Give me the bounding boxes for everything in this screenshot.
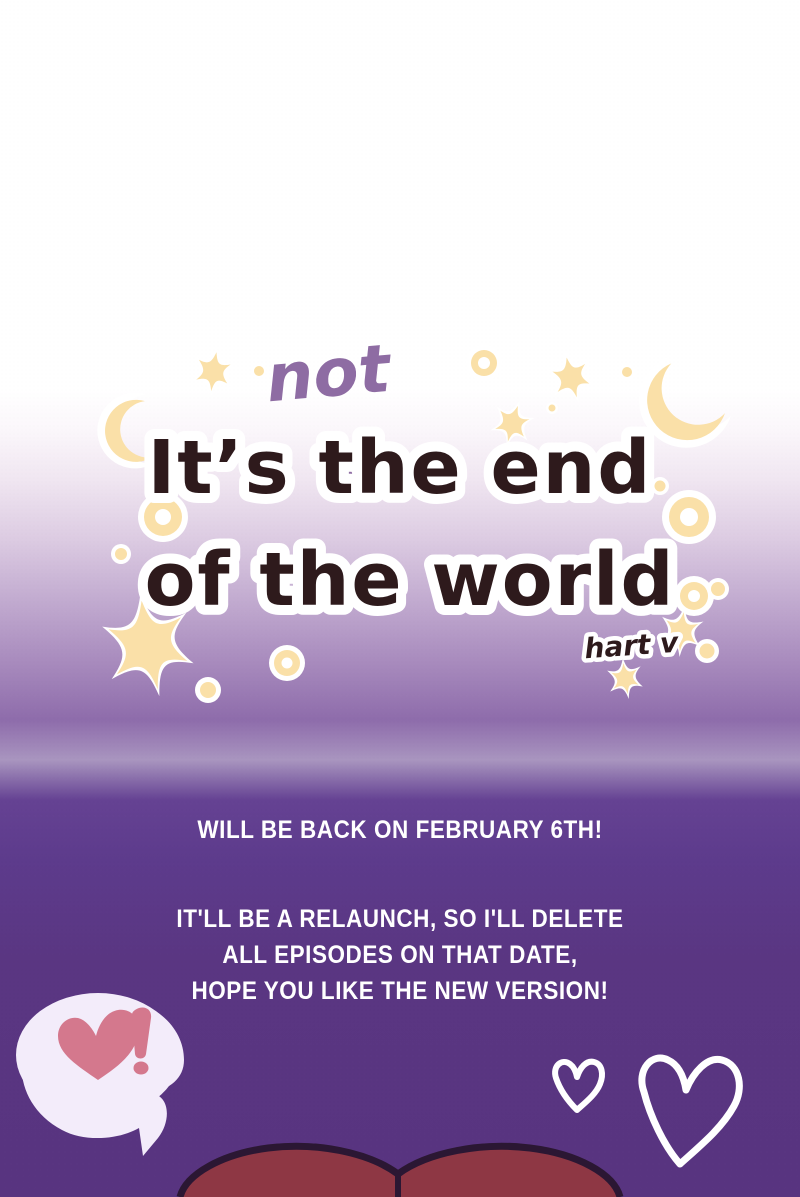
heart-outline-icon-large bbox=[642, 1058, 739, 1164]
exclamation-dot bbox=[134, 1062, 149, 1075]
title-line-2: of the world bbox=[145, 537, 676, 623]
heart-outline-icon-small bbox=[555, 1062, 602, 1110]
character-hair bbox=[180, 1146, 620, 1197]
speech-bubble bbox=[16, 993, 184, 1156]
announcement-body-line-1: It'll be a relaunch, so I'll delete bbox=[40, 907, 760, 932]
title-inserted-word: not bbox=[263, 330, 396, 418]
bottom-artwork bbox=[0, 960, 800, 1197]
artist-signature: hart v bbox=[583, 626, 680, 666]
announcement-return-date: Will be back on February 6th! bbox=[40, 818, 760, 843]
title-line-1: It’s the end bbox=[148, 425, 653, 511]
title-block: not It’s the end It’s the end of the wor… bbox=[0, 318, 800, 698]
webtoon-announcement-page: not It’s the end It’s the end of the wor… bbox=[0, 0, 800, 1197]
